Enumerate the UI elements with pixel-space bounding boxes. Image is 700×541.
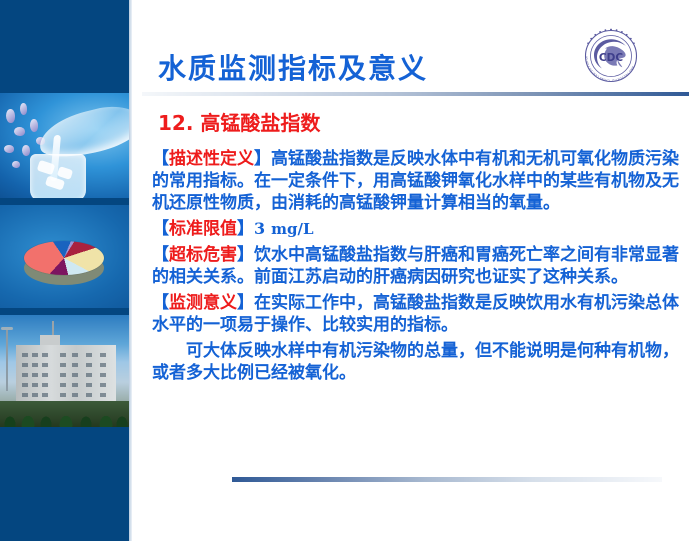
paragraph-descriptive-definition: 【描述性定义】高锰酸盐指数是反映水体中有机和无机可氧化物质污染的常用指标。在一定…	[152, 148, 692, 214]
section-heading: 12. 高锰酸盐指数	[158, 107, 320, 136]
slide-canvas: 水质监测指标及意义 CDC CHINA CENTER FOR DISEASE C…	[0, 0, 700, 541]
tag-label-monitoring-significance: 监测意义	[169, 293, 237, 313]
sidebar-thumbnail-building	[0, 315, 129, 427]
tree-row	[0, 401, 129, 427]
title-divider	[142, 92, 689, 96]
water-glass	[30, 154, 86, 198]
tag-close-bracket: 】	[237, 219, 254, 239]
paragraph-monitoring-significance: 【监测意义】在实际工作中，高锰酸盐指数是反映饮用水有机污染总体水平的一项易于操作…	[152, 292, 692, 336]
tag-label-standard-limit: 标准限值	[169, 219, 237, 239]
ice-cube	[45, 175, 65, 190]
standard-limit-unit: mg/L	[271, 220, 313, 238]
page-title: 水质监测指标及意义	[158, 47, 428, 87]
sidebar-thumbnail-pie-chart	[0, 205, 129, 308]
cdc-logo: CDC CHINA CENTER FOR DISEASE CONTROL AND…	[579, 24, 643, 88]
tag-open-bracket: 【	[152, 219, 169, 239]
tag-open-bracket: 【	[152, 245, 169, 265]
splash-drop	[20, 103, 27, 115]
ice-cube	[57, 166, 73, 180]
splash-drop	[22, 145, 30, 156]
bottom-divider	[232, 477, 662, 482]
splash-drop	[4, 145, 14, 153]
tag-label-descriptive-definition: 描述性定义	[169, 149, 254, 169]
sidebar-thumbnail-water	[0, 93, 129, 198]
sidebar-divider	[129, 0, 132, 541]
splash-drop	[14, 127, 25, 136]
cdc-logo-text: CDC	[599, 52, 623, 64]
paragraph-exceedance-hazard: 【超标危害】饮水中高锰酸盐指数与肝癌和胃癌死亡率之间有非常显著的相关关系。前面江…	[152, 244, 692, 288]
lamp-head	[1, 327, 13, 330]
tag-close-bracket: 】	[254, 149, 271, 169]
tag-open-bracket: 【	[152, 149, 169, 169]
paragraph-standard-limit: 【标准限值】3mg/L	[152, 218, 692, 240]
standard-limit-value: 3	[254, 219, 265, 238]
tag-open-bracket: 【	[152, 293, 169, 313]
splash-drop	[30, 119, 38, 132]
pie-chart-top	[24, 241, 104, 275]
slide-body: 【描述性定义】高锰酸盐指数是反映水体中有机和无机可氧化物质污染的常用指标。在一定…	[152, 148, 692, 388]
tag-close-bracket: 】	[237, 245, 254, 265]
lamp-post	[6, 329, 8, 391]
building-facade	[16, 345, 116, 407]
decorative-sidebar	[0, 0, 129, 541]
tag-close-bracket: 】	[237, 293, 254, 313]
splash-drop	[12, 161, 20, 168]
paragraph-closing: 可大体反映水样中有机污染物的总量，但不能说明是何种有机物，或者多大比例已经被氧化…	[152, 340, 692, 384]
tag-label-exceedance-hazard: 超标危害	[169, 245, 237, 265]
ice-cube	[37, 160, 56, 175]
splash-drop	[6, 109, 15, 123]
